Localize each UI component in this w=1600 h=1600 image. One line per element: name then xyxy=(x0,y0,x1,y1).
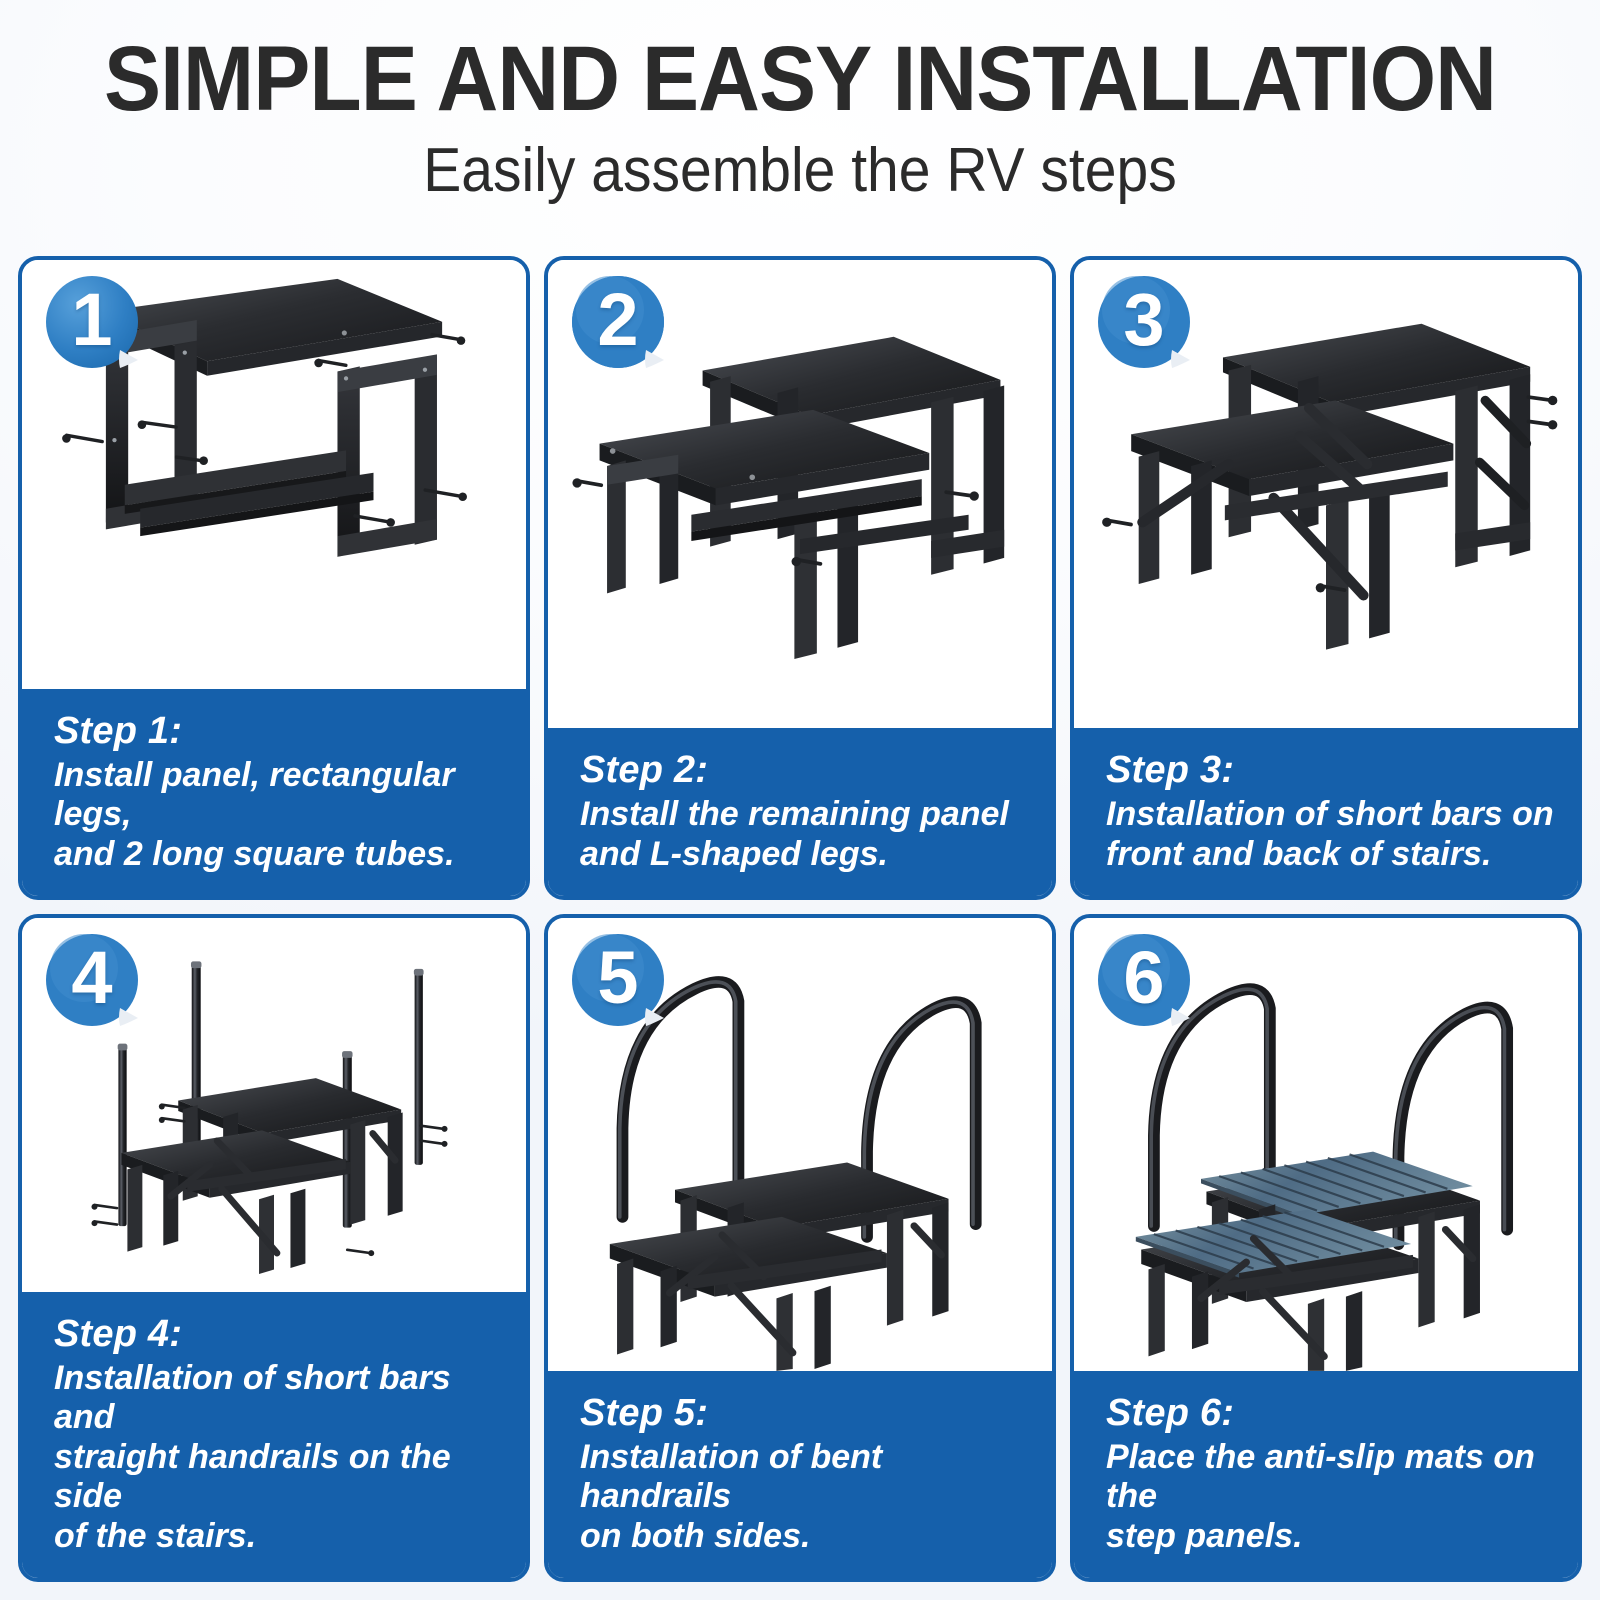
page-subtitle: Easily assemble the RV steps xyxy=(64,140,1536,202)
screw xyxy=(1526,395,1557,405)
screw xyxy=(91,1203,118,1209)
l-shaped-leg-left xyxy=(607,455,678,594)
lower-leg-center xyxy=(1308,1291,1362,1371)
step-caption-1: Step 1: Install panel, rectangular legs,… xyxy=(22,689,526,896)
step-card-4[interactable]: 4 Step 4: Installation of short bars and… xyxy=(18,914,530,1582)
upper-leg-right xyxy=(1418,1204,1480,1327)
step-badge-3: 3 xyxy=(1096,274,1200,378)
screw xyxy=(1102,518,1133,527)
step-label-3: Step 3: xyxy=(1106,748,1556,793)
step-label-6: Step 6: xyxy=(1106,1391,1556,1436)
step-number-3: 3 xyxy=(1096,274,1192,370)
screw xyxy=(159,1117,186,1123)
step-badge-2: 2 xyxy=(570,274,674,378)
step-label-2: Step 2: xyxy=(580,748,1030,793)
screw xyxy=(138,420,178,429)
screw xyxy=(419,1124,447,1132)
screw xyxy=(430,333,465,345)
step-number-4: 4 xyxy=(44,932,140,1028)
step-caption-2: Step 2: Install the remaining panel and … xyxy=(548,728,1052,896)
screw xyxy=(314,359,348,368)
upper-leg-right xyxy=(350,1112,402,1224)
screw xyxy=(62,433,104,443)
step-card-3[interactable]: 3 Step 3: Installation of short bars on … xyxy=(1070,256,1582,900)
step-text-2: Install the remaining panel and L-shaped… xyxy=(580,795,1030,874)
lower-leg-left xyxy=(1148,1264,1208,1356)
step-text-5: Installation of bent handrails on both s… xyxy=(580,1438,1030,1556)
upper-leg-right xyxy=(931,386,1004,575)
step-number-5: 5 xyxy=(570,932,666,1028)
step-card-6[interactable]: 6 Step 6: Place the anti-slip mats on th… xyxy=(1070,914,1582,1582)
screw xyxy=(346,1248,374,1256)
step-badge-5: 5 xyxy=(570,932,674,1036)
step-number-2: 2 xyxy=(570,274,666,370)
step-number-6: 6 xyxy=(1096,932,1192,1028)
upper-step-panel xyxy=(178,1078,401,1144)
step-card-5[interactable]: 5 Step 5: Installation of bent handrails… xyxy=(544,914,1056,1582)
step-caption-3: Step 3: Installation of short bars on fr… xyxy=(1074,728,1578,896)
step-text-6: Place the anti-slip mats on the step pan… xyxy=(1106,1438,1556,1556)
step-caption-6: Step 6: Place the anti-slip mats on the … xyxy=(1074,1371,1578,1578)
screw xyxy=(419,1139,447,1147)
lower-leg-center xyxy=(259,1189,305,1274)
header: SIMPLE AND EASY INSTALLATION Easily asse… xyxy=(0,0,1600,202)
step-card-1[interactable]: 1 Step 1: Install panel, rectangular leg… xyxy=(18,256,530,900)
lower-leg-center xyxy=(776,1286,830,1371)
step-badge-1: 1 xyxy=(44,274,148,378)
screw xyxy=(1526,419,1557,429)
step-label-4: Step 4: xyxy=(54,1312,504,1357)
step-caption-5: Step 5: Installation of bent handrails o… xyxy=(548,1371,1052,1578)
page-title: SIMPLE AND EASY INSTALLATION xyxy=(56,34,1544,124)
screw xyxy=(572,478,603,487)
straight-handrail-post xyxy=(118,1044,128,1227)
step-label-5: Step 5: xyxy=(580,1391,1030,1436)
step-panel xyxy=(102,279,443,376)
step-badge-4: 4 xyxy=(44,932,148,1036)
straight-handrail-post xyxy=(414,969,424,1165)
lower-leg-left xyxy=(617,1259,677,1355)
screw xyxy=(91,1220,118,1226)
step-caption-4: Step 4: Installation of short bars and s… xyxy=(22,1292,526,1578)
step-label-1: Step 1: xyxy=(54,709,504,754)
step-text-1: Install panel, rectangular legs, and 2 l… xyxy=(54,756,504,874)
lower-leg-left xyxy=(127,1165,178,1252)
step-badge-6: 6 xyxy=(1096,932,1200,1036)
rectangular-leg-right xyxy=(337,354,436,556)
steps-grid: 1 Step 1: Install panel, rectangular leg… xyxy=(18,256,1582,1582)
step-card-2[interactable]: 2 Step 2: Install the remaining panel an… xyxy=(544,256,1056,900)
step-text-4: Installation of short bars and straight … xyxy=(54,1359,504,1556)
upper-step-panel xyxy=(703,337,1001,431)
step-number-1: 1 xyxy=(44,274,140,370)
step-text-3: Installation of short bars on front and … xyxy=(1106,795,1556,874)
upper-leg-right xyxy=(887,1202,949,1325)
